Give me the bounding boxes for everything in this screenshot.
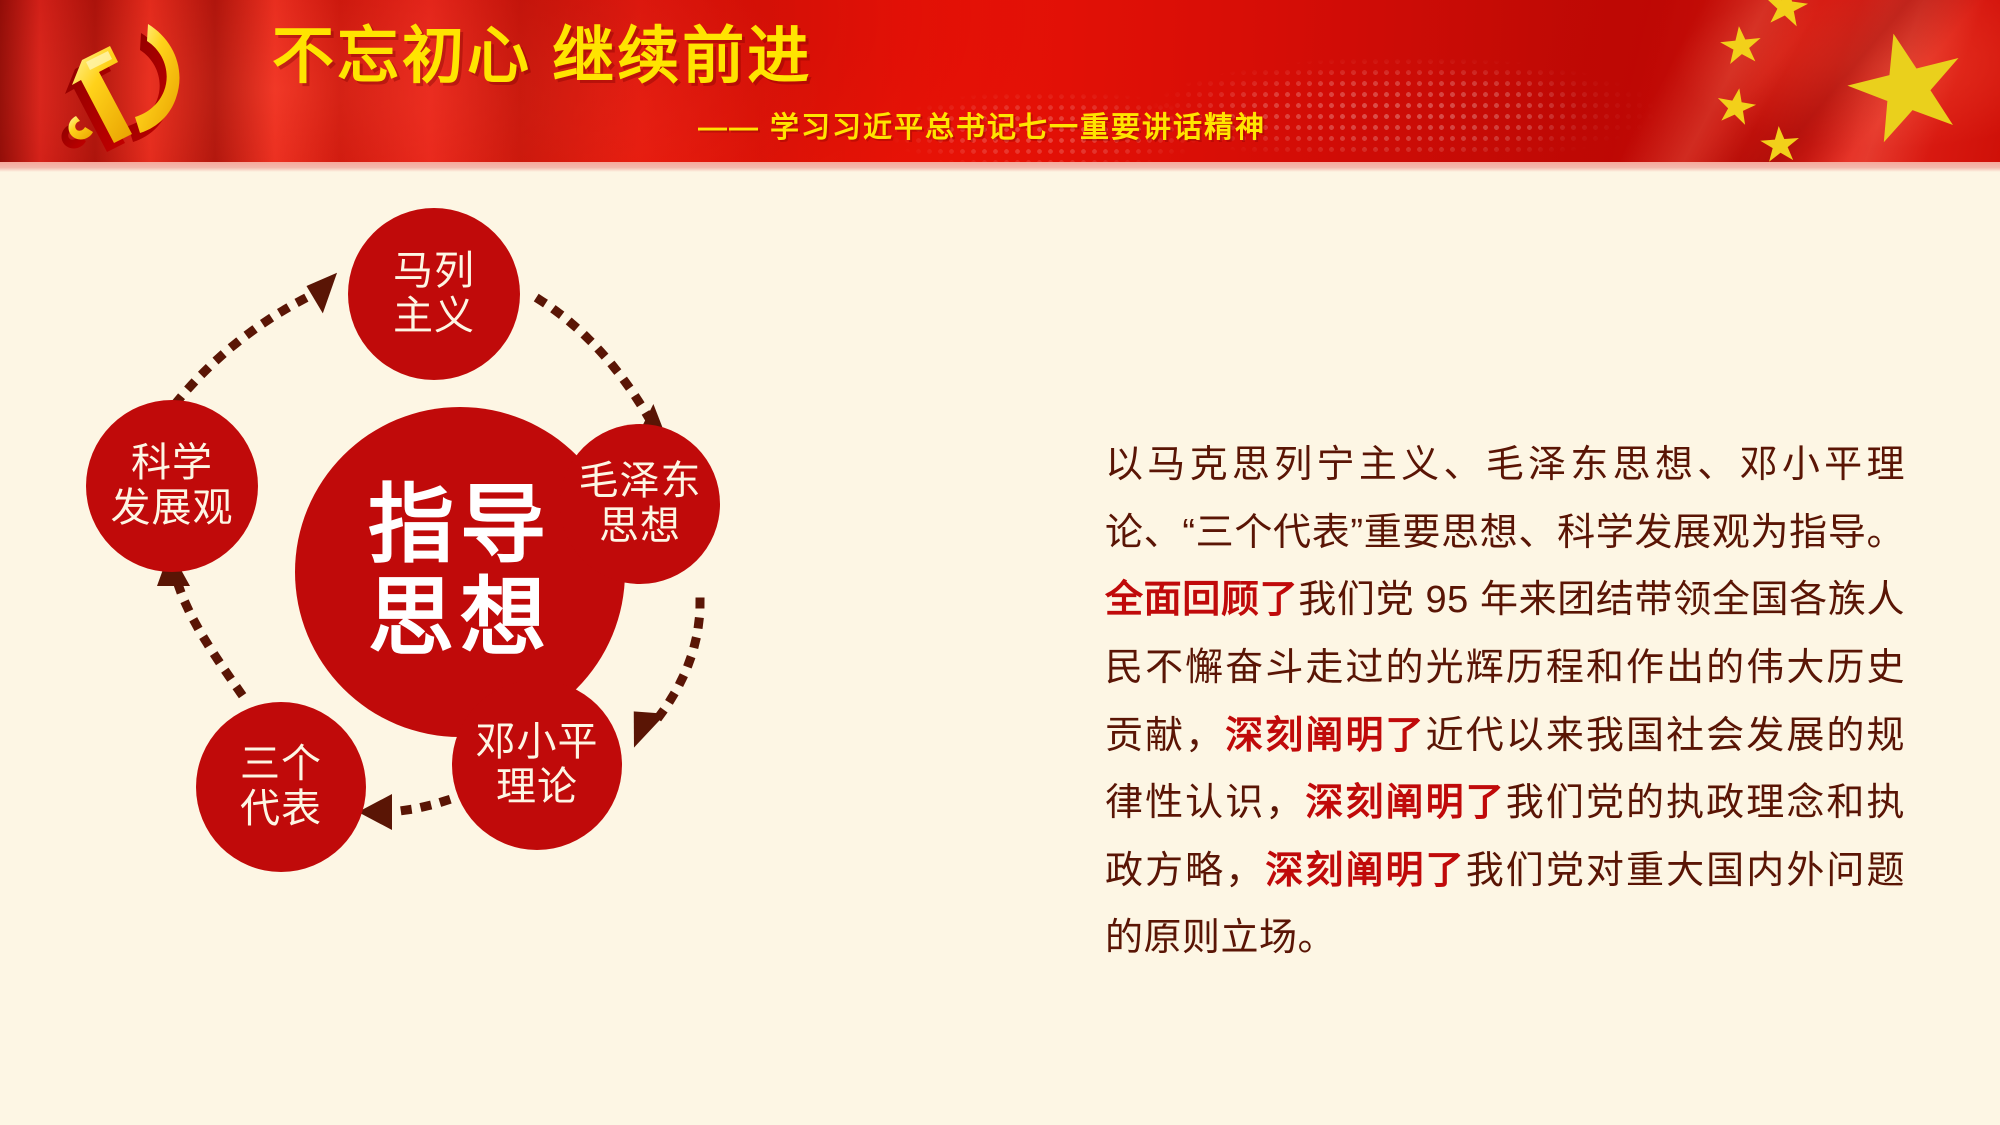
arrow-mao-to-deng-line [650,602,700,728]
body-paragraph: 以马克思列宁主义、毛泽东思想、邓小平理论、“三个代表”重要思想、科学发展观为指导… [1105,432,1905,973]
center-node-label-line1: 指导 [368,479,552,572]
node-sange-label-line2: 代表 [240,787,322,832]
node-mao-label-line1: 毛泽东 [579,459,702,504]
header-title-block: 不忘初心 继续前进 —— 学习习近平总书记七一重要讲话精神 [272,26,1272,146]
diagram-node-malie[interactable]: 马列 主义 [348,208,520,380]
page-title: 不忘初心 继续前进 [272,26,1272,88]
diagram-node-mao[interactable]: 毛泽东 思想 [560,424,720,584]
hammer-sickle-emblem-icon [52,16,202,156]
diagram-node-sange[interactable]: 三个 代表 [196,702,366,872]
node-kexue-label-line1: 科学 [131,441,213,486]
diagram-node-deng[interactable]: 邓小平 理论 [452,680,622,850]
slide-root: 不忘初心 继续前进 —— 学习习近平总书记七一重要讲话精神 [0,0,2000,1125]
node-malie-label-line2: 主义 [393,294,475,339]
node-mao-label-line2: 思想 [599,504,681,549]
arrow-kexue-to-malie-line [165,292,318,417]
china-flag [1540,0,2000,162]
node-deng-label-line2: 理论 [496,765,578,810]
header-banner: 不忘初心 继续前进 —— 学习习近平总书记七一重要讲话精神 [0,0,2000,162]
arrow-sange-to-kexue-line [178,584,240,692]
arrow-deng-to-sange-line [378,794,465,812]
page-subtitle: —— 学习习近平总书记七一重要讲话精神 [272,104,1272,146]
body-plain-text: 以马克思列宁主义、毛泽东思想、邓小平理论、“三个代表”重要思想、科学发展观为指导… [1105,444,1905,554]
body-emphasis-text: 深刻阐明了 [1305,782,1505,824]
arrow-mao-to-deng-head [630,710,666,750]
body-emphasis-text: 深刻阐明了 [1265,850,1465,892]
node-malie-label-line1: 马列 [393,249,475,294]
body-emphasis-text: 深刻阐明了 [1225,715,1425,757]
node-deng-label-line1: 邓小平 [476,720,599,765]
node-sange-label-line1: 三个 [240,742,322,787]
diagram-node-kexue[interactable]: 科学 发展观 [86,400,258,572]
arrow-kexue-to-malie-head [300,265,337,314]
body-emphasis-text: 全面回顾了 [1105,579,1298,621]
arrow-malie-to-mao-line [540,300,650,420]
guiding-ideology-diagram: 指导 思想 马列 主义 毛泽东 思想 邓小平 理论 三个 代表 科学 发展观 [0,172,1060,1125]
node-kexue-label-line2: 发展观 [111,486,234,531]
header-bottom-edge [0,162,2000,172]
center-node-label-line2: 思想 [368,572,552,665]
